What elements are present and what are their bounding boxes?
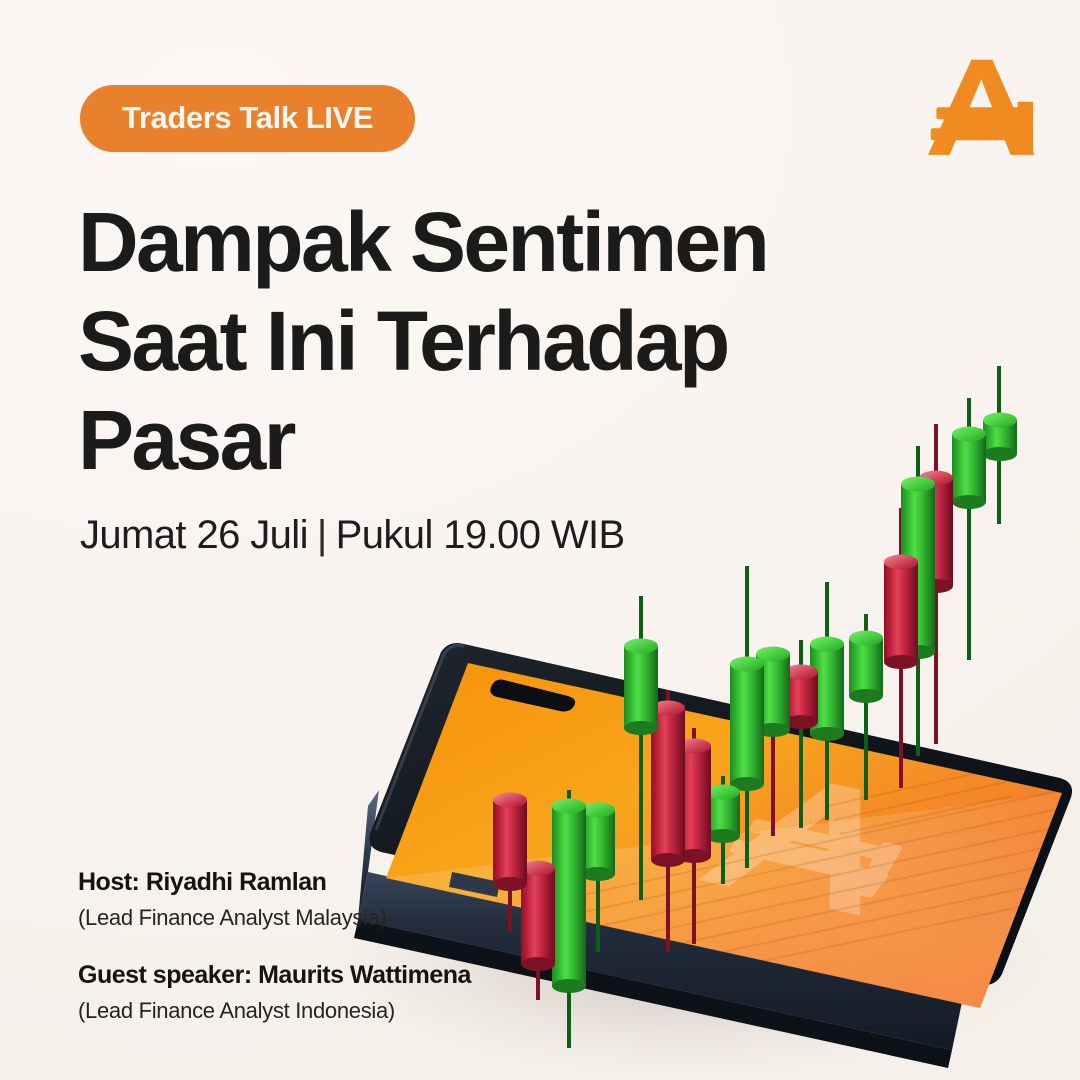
candle-bullish xyxy=(952,427,986,510)
headline-line-3: Pasar xyxy=(78,391,838,490)
live-badge[interactable]: Traders Talk LIVE xyxy=(80,85,415,152)
speakers-list: Host: Riyadhi Ramlan (Lead Finance Analy… xyxy=(78,866,598,1027)
live-badge-label: Traders Talk LIVE xyxy=(122,100,373,135)
candle-bullish xyxy=(624,639,658,736)
schedule-separator: | xyxy=(308,513,336,558)
candle-bullish xyxy=(730,657,764,792)
schedule-date: Jumat 26 Juli xyxy=(80,513,308,557)
speaker-host: Host: Riyadhi Ramlan (Lead Finance Analy… xyxy=(78,866,598,933)
candle-bullish xyxy=(983,413,1017,462)
speaker-host-name: Host: Riyadhi Ramlan xyxy=(78,866,598,899)
speaker-guest-role: (Lead Finance Analyst Indonesia) xyxy=(78,995,598,1027)
schedule-line: Jumat 26 Juli|Pukul 19.00 WIB xyxy=(80,513,625,558)
headline-line-1: Dampak Sentimen xyxy=(78,193,838,292)
candle-bullish xyxy=(849,631,883,704)
speaker-guest-name: Guest speaker: Maurits Wattimena xyxy=(78,959,598,992)
headline-line-2: Saat Ini Terhadap xyxy=(78,292,838,391)
schedule-time: Pukul 19.00 WIB xyxy=(336,513,625,557)
brand-a-logo-icon xyxy=(928,52,1040,164)
speaker-guest: Guest speaker: Maurits Wattimena (Lead F… xyxy=(78,959,598,1026)
speaker-host-role: (Lead Finance Analyst Malaysia) xyxy=(78,902,598,934)
page-title: Dampak Sentimen Saat Ini Terhadap Pasar xyxy=(78,193,838,490)
candle-bearish xyxy=(884,555,918,670)
poster-canvas: Traders Talk LIVE Dampak Sentimen Saat I… xyxy=(0,0,1080,1080)
candle-bullish xyxy=(706,785,740,844)
